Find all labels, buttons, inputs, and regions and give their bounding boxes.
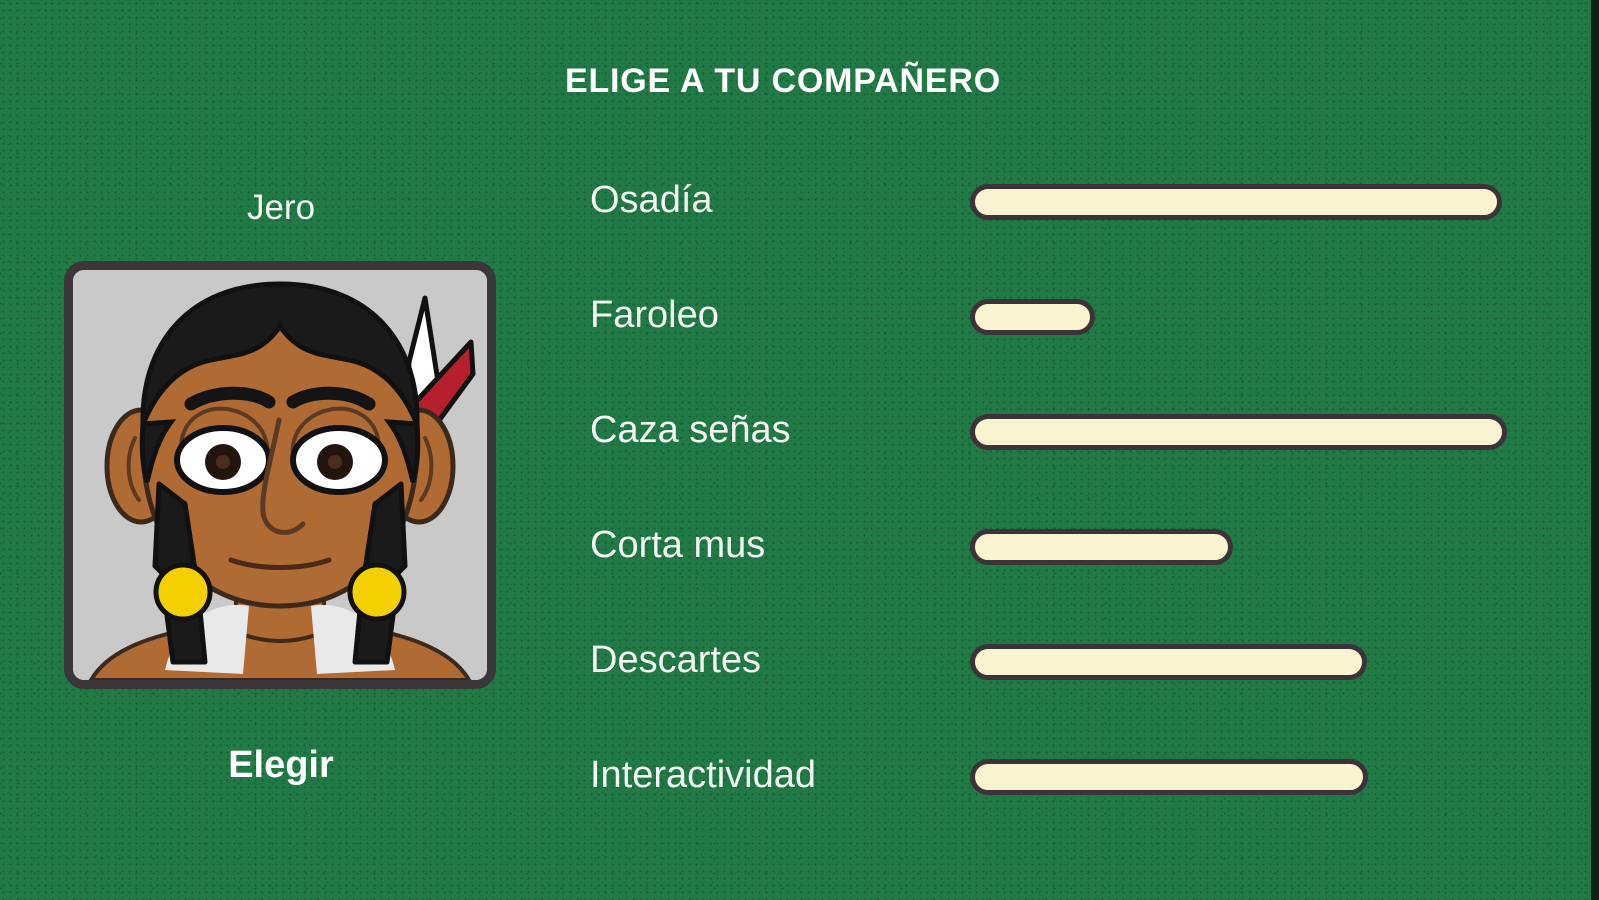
stat-label-faroleo: Faroleo bbox=[590, 291, 719, 339]
stat-row: Osadía bbox=[590, 176, 1550, 291]
screen-right-edge bbox=[1591, 0, 1599, 900]
stat-label-corta-mus: Corta mus bbox=[590, 521, 765, 569]
character-select-screen: ELIGE A TU COMPAÑERO Jero bbox=[0, 0, 1599, 900]
stat-bar-faroleo bbox=[970, 299, 1095, 335]
character-name: Jero bbox=[64, 188, 498, 228]
stat-label-descartes: Descartes bbox=[590, 636, 761, 684]
stat-label-caza-senas: Caza señas bbox=[590, 406, 791, 454]
stat-row: Interactividad bbox=[590, 751, 1550, 866]
stat-row: Corta mus bbox=[590, 521, 1550, 636]
stat-row: Descartes bbox=[590, 636, 1550, 751]
character-portrait[interactable] bbox=[64, 261, 496, 689]
page-title: ELIGE A TU COMPAÑERO bbox=[0, 62, 1566, 101]
stat-bar-caza-senas bbox=[970, 414, 1507, 450]
stat-bar-descartes bbox=[970, 644, 1367, 680]
stat-label-osadia: Osadía bbox=[590, 176, 713, 224]
native-american-avatar-icon bbox=[73, 270, 487, 680]
choose-button[interactable]: Elegir bbox=[64, 744, 498, 787]
stat-bar-interactividad bbox=[970, 759, 1368, 795]
stat-bar-osadia bbox=[970, 184, 1502, 220]
stat-row: Caza señas bbox=[590, 406, 1550, 521]
stat-row: Faroleo bbox=[590, 291, 1550, 406]
stat-label-interactividad: Interactividad bbox=[590, 751, 816, 799]
stat-bar-corta-mus bbox=[970, 529, 1233, 565]
stats-panel: Osadía Faroleo Caza señas Corta mus Desc… bbox=[590, 176, 1550, 866]
